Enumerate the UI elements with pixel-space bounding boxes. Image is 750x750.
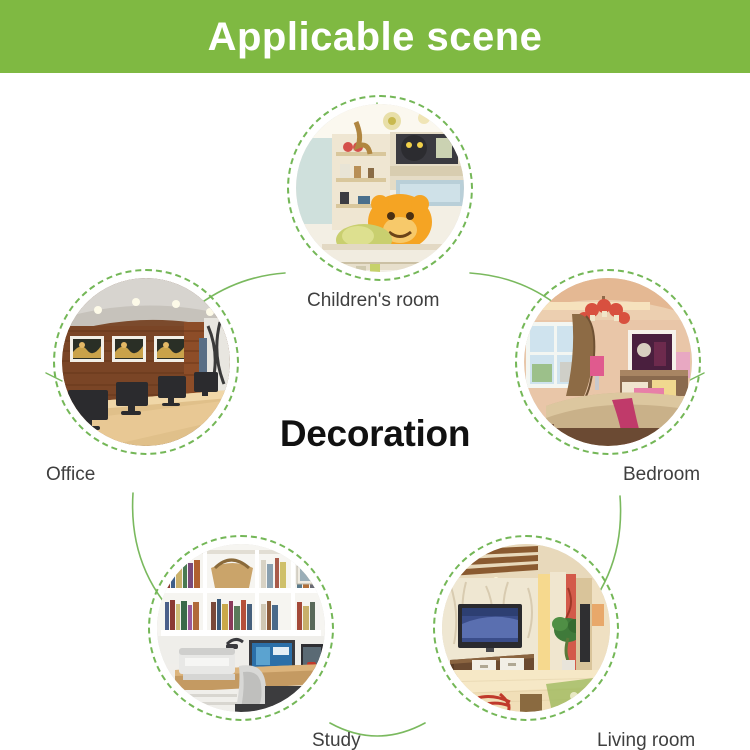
node-label-study: Study: [312, 731, 361, 750]
center-label: Decoration: [0, 413, 750, 455]
node-photo-study[interactable]: [157, 544, 325, 712]
scene-diagram: Children's room: [0, 73, 750, 750]
header-banner: Applicable scene: [0, 0, 750, 73]
page-title: Applicable scene: [208, 17, 543, 57]
node-label-living-room: Living room: [597, 731, 695, 750]
node-label-bedroom: Bedroom: [623, 465, 700, 484]
node-photo-living-room[interactable]: [442, 544, 610, 712]
page-root: Applicable scene: [0, 0, 750, 750]
node-living-room[interactable]: Living room: [433, 535, 619, 721]
node-childrens-room[interactable]: Children's room: [287, 95, 473, 281]
node-label-childrens-room: Children's room: [307, 291, 439, 310]
node-study[interactable]: Study: [148, 535, 334, 721]
node-label-office: Office: [46, 465, 95, 484]
node-photo-childrens-room[interactable]: [296, 104, 464, 272]
